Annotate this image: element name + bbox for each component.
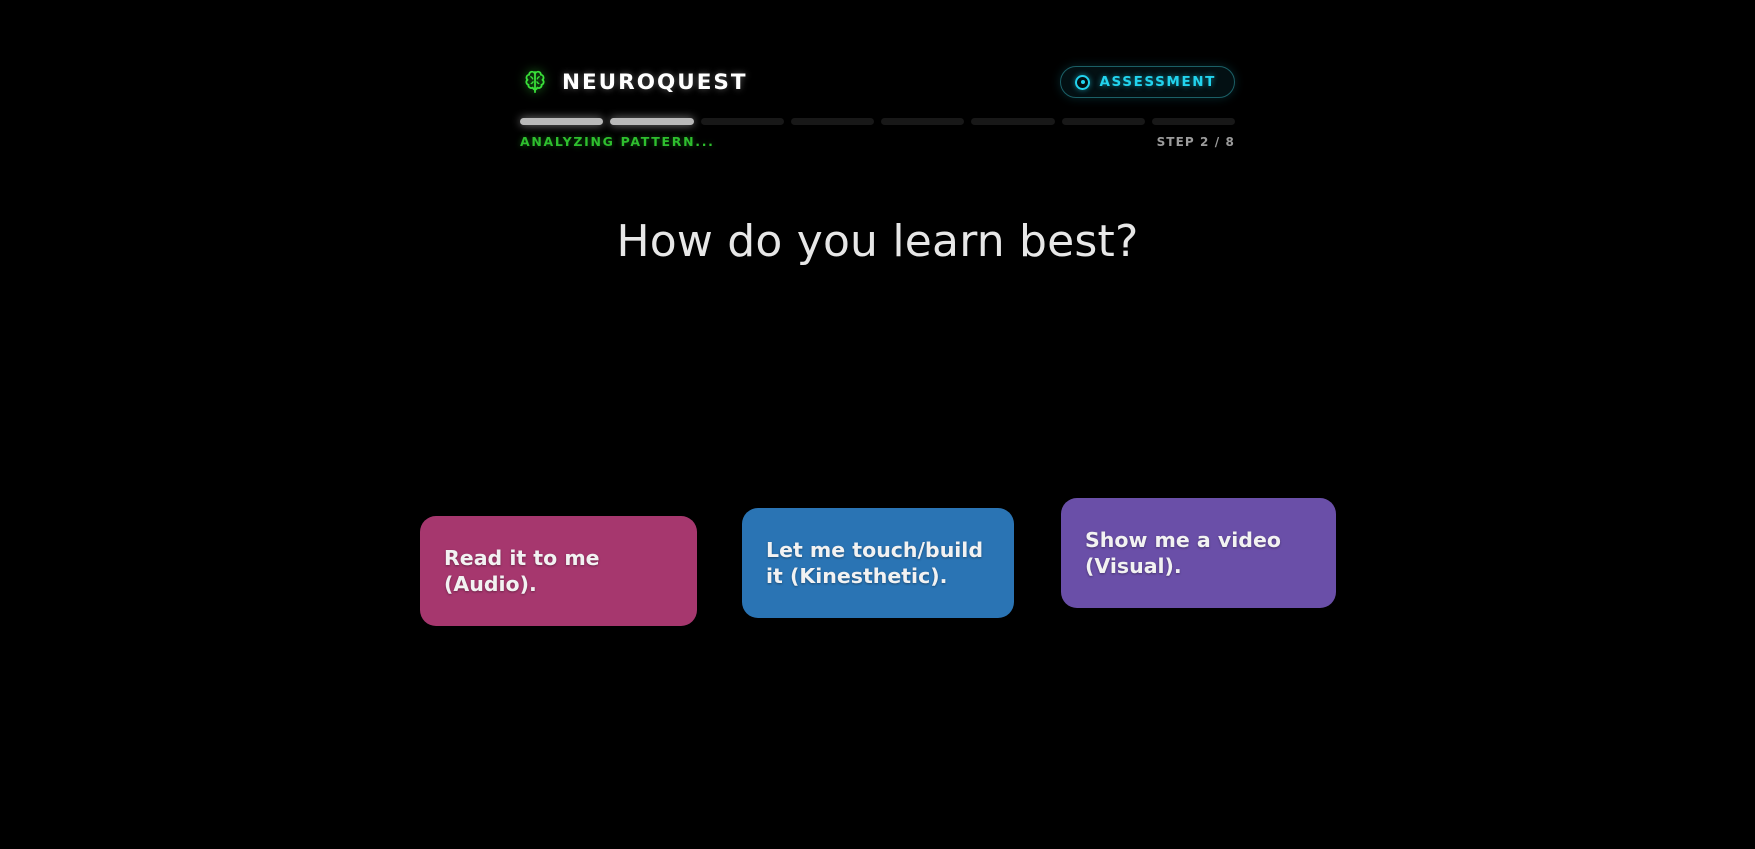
progress-segment-6 [971,118,1054,125]
target-dot-icon [1075,75,1090,90]
brand-name: NEUROQUEST [562,70,748,95]
app-root: NEUROQUEST ASSESSMENT ANALYZING PATTERN.… [0,0,1755,849]
progress-segment-2 [610,118,693,125]
brain-icon [520,67,550,97]
progress-bar [520,118,1235,125]
app-header: NEUROQUEST ASSESSMENT [520,62,1235,102]
progress-segment-7 [1062,118,1145,125]
progress-meta: ANALYZING PATTERN... STEP 2 / 8 [520,134,1235,149]
step-counter: STEP 2 / 8 [1157,135,1235,149]
page-title: How do you learn best? [0,216,1755,267]
option-card-label: Show me a video (Visual). [1085,527,1312,579]
progress-segment-5 [881,118,964,125]
option-card-label: Read it to me (Audio). [444,545,673,597]
progress-segment-8 [1152,118,1235,125]
brand-logo: NEUROQUEST [520,67,748,97]
option-card-label: Let me touch/build it (Kinesthetic). [766,537,990,589]
status-text: ANALYZING PATTERN... [520,134,715,149]
progress-segment-3 [701,118,784,125]
option-card-visual[interactable]: Show me a video (Visual). [1061,498,1336,608]
progress-segment-4 [791,118,874,125]
option-card-audio[interactable]: Read it to me (Audio). [420,516,697,626]
progress-segment-1 [520,118,603,125]
assessment-badge[interactable]: ASSESSMENT [1060,66,1235,98]
assessment-badge-label: ASSESSMENT [1099,74,1216,90]
option-card-kinesthetic[interactable]: Let me touch/build it (Kinesthetic). [742,508,1014,618]
